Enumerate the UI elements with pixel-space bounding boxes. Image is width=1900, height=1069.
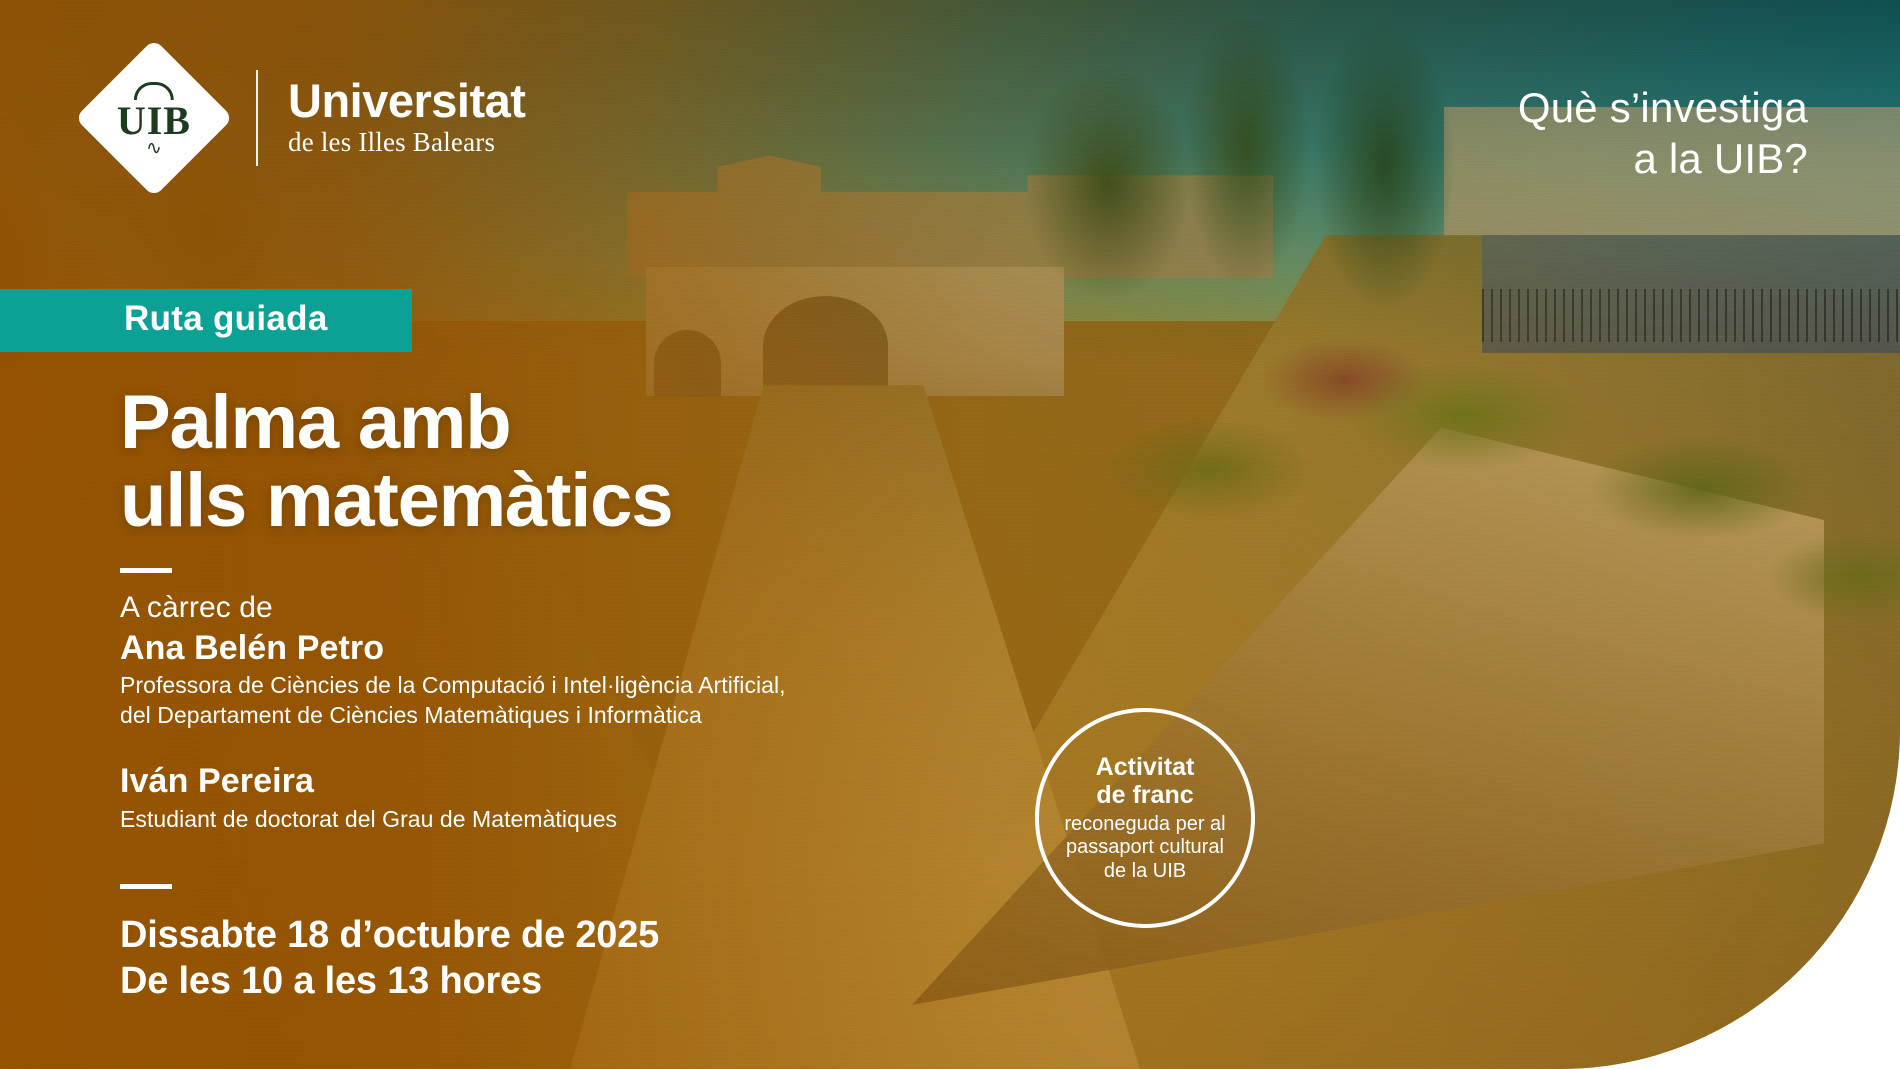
- credits-lead: A càrrec de: [120, 590, 786, 627]
- speaker-entry: Ana Belén Petro Professora de Ciències d…: [120, 628, 786, 732]
- uib-diamond-logo-icon: UIB ∿: [75, 39, 233, 197]
- tagline-line-1: Què s’investiga: [1518, 82, 1808, 133]
- speaker-name: Ana Belén Petro: [120, 628, 786, 669]
- title-line-2: ulls matemàtics: [120, 462, 672, 540]
- speaker-role-line-2: del Departament de Ciències Matemàtiques…: [120, 701, 786, 731]
- uib-diamond-inner: UIB ∿: [117, 82, 191, 154]
- speaker-name: Iván Pereira: [120, 761, 786, 802]
- stamp-line-2: de franc: [1096, 781, 1195, 809]
- event-poster: UIB ∿ Universitat de les Illes Balears Q…: [0, 0, 1900, 1069]
- uib-wave-icon: ∿: [117, 143, 191, 154]
- divider-rule-bottom: [120, 884, 172, 889]
- speaker-role: Professora de Ciències de la Computació …: [120, 671, 786, 731]
- stamp-line-3: reconeguda per al: [1064, 813, 1225, 837]
- speaker-role: Estudiant de doctorat del Grau de Matemà…: [120, 805, 786, 835]
- poster-content: UIB ∿ Universitat de les Illes Balears Q…: [0, 0, 1900, 1069]
- category-label: Ruta guiada: [124, 300, 328, 339]
- category-ribbon: Ruta guiada: [0, 289, 412, 352]
- stamp-headline: Activitat de franc: [1096, 753, 1195, 809]
- stamp-subtext: reconeguda per al passaport cultural de …: [1064, 813, 1225, 884]
- speaker-role-line-1: Estudiant de doctorat del Grau de Matemà…: [120, 805, 786, 835]
- free-activity-stamp: Activitat de franc reconeguda per al pas…: [1035, 708, 1255, 928]
- uib-monogram: UIB: [117, 98, 191, 143]
- speaker-role-line-1: Professora de Ciències de la Computació …: [120, 671, 786, 701]
- event-title: Palma amb ulls matemàtics: [120, 384, 672, 541]
- uib-logo-lockup: UIB ∿ Universitat de les Illes Balears: [98, 62, 525, 174]
- tagline-line-2: a la UIB?: [1518, 133, 1808, 184]
- logo-divider: [256, 70, 258, 166]
- wordmark-university: Universitat: [288, 77, 525, 124]
- wordmark-islands: de les Illes Balears: [288, 126, 525, 158]
- stamp-line-1: Activitat: [1096, 753, 1195, 781]
- campaign-tagline: Què s’investiga a la UIB?: [1518, 82, 1808, 184]
- stamp-line-4: passaport cultural: [1064, 836, 1225, 860]
- event-date: Dissabte 18 d’octubre de 2025: [120, 912, 659, 958]
- event-time: De les 10 a les 13 hores: [120, 958, 659, 1004]
- divider-rule-top: [120, 568, 172, 573]
- schedule-block: Dissabte 18 d’octubre de 2025 De les 10 …: [120, 912, 659, 1005]
- uib-wordmark: Universitat de les Illes Balears: [288, 77, 525, 158]
- speaker-entry: Iván Pereira Estudiant de doctorat del G…: [120, 761, 786, 835]
- stamp-line-5: de la UIB: [1064, 860, 1225, 884]
- title-line-1: Palma amb: [120, 380, 511, 465]
- credits-block: A càrrec de Ana Belén Petro Professora d…: [120, 590, 786, 835]
